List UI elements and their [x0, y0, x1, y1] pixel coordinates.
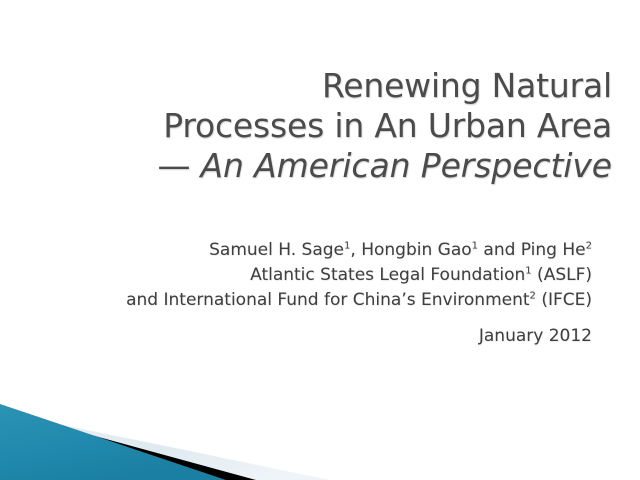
slide-title: Renewing Natural Processes in An Urban A…: [0, 66, 612, 186]
date-block: January 2012: [0, 324, 592, 348]
teal-triangle: [0, 404, 226, 480]
affiliation-line: Atlantic States Legal Foundation1 (ASLF): [0, 263, 592, 288]
em-dash: —: [157, 146, 200, 185]
affiliation-acronym: (IFCE): [536, 290, 592, 310]
author-affiliation-block: Samuel H. Sage1, Hongbin Gao1 and Ping H…: [0, 238, 592, 313]
affiliation-marker: 2: [586, 240, 592, 251]
title-line-2: Processes in An Urban Area: [0, 106, 612, 146]
presentation-date: January 2012: [0, 324, 592, 348]
black-wedge: [0, 410, 256, 480]
author-names-part: Samuel H. Sage: [209, 240, 344, 260]
slide-canvas: Renewing Natural Processes in An Urban A…: [0, 0, 640, 480]
flow-theme-corner-banner-icon: [0, 390, 360, 480]
author-names-part: , Hongbin Gao: [350, 240, 471, 260]
subtitle-text: An American Perspective: [200, 146, 612, 185]
pale-blue-band: [0, 412, 330, 480]
affiliation-acronym: (ASLF): [532, 265, 592, 285]
affiliation-line: and International Fund for China’s Envir…: [0, 288, 592, 313]
affiliation-name: and International Fund for China’s Envir…: [126, 290, 529, 310]
title-line-1: Renewing Natural: [0, 66, 612, 106]
author-names-part: and Ping He: [478, 240, 586, 260]
title-line-3: —An American Perspective: [0, 146, 612, 186]
author-line: Samuel H. Sage1, Hongbin Gao1 and Ping H…: [0, 238, 592, 263]
affiliation-name: Atlantic States Legal Foundation: [250, 265, 525, 285]
